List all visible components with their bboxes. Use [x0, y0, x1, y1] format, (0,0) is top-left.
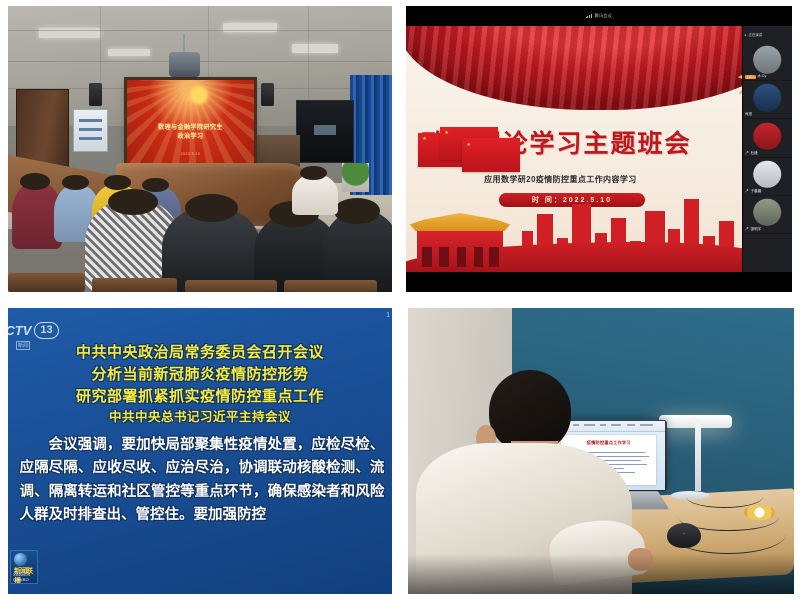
speaker-right [261, 83, 274, 106]
seated-attendees [8, 172, 392, 292]
panel-conference-room[interactable]: 数理与金融学院研究生 政治学习 2022.5.10 [0, 0, 400, 300]
cctv-wordmark: CCTV [8, 323, 31, 338]
meeting-app-label: 腾讯会议 [595, 13, 613, 19]
participant-name: 于晨晨 [751, 189, 762, 194]
participant-name: 杜峰 [751, 151, 758, 156]
signal-icon [586, 14, 592, 18]
participant-name-row: 主持人 木.Cy [745, 74, 767, 79]
globe-icon [14, 553, 27, 566]
avatar [754, 160, 782, 188]
conference-room-photo: 数理与金融学院研究生 政治学习 2022.5.10 [8, 6, 392, 292]
tiananmen-gate-illustration [410, 213, 510, 267]
participant-name: 肖旭 [745, 112, 752, 117]
wall-poster [73, 109, 108, 152]
channel-number: 13 [34, 322, 58, 339]
participant-name-row: 🎤 于晨晨 [745, 189, 762, 194]
sidebar-header-label: 正在演讲 [749, 32, 763, 37]
national-flags: ★ ★ ★ [418, 124, 518, 178]
participant-name-row: 🎤 邵明宇 [745, 227, 762, 232]
projector-slide-title: 数理与金融学院研究生 政治学习 [133, 124, 247, 142]
slide-title-line2: 政治学习 [133, 133, 247, 142]
mic-icon: 🎤 [745, 189, 749, 193]
ceiling-projector [169, 52, 200, 78]
participant-name-row: 🎤 杜峰 [745, 151, 758, 156]
cctv-logo: CCTV 13 [8, 322, 59, 339]
speaking-indicator-icon: ▸ [745, 33, 747, 37]
mic-icon: 🎤 [745, 151, 749, 155]
projector-slide-date: 2022.5.10 [127, 152, 254, 156]
avatar [754, 84, 782, 112]
xinwen-lianbo-logo: 新闻联播 XINWEN LIANBO [10, 550, 38, 584]
participant-tile[interactable]: 主持人 木.Cy [743, 43, 792, 81]
student-laptop-photo: 疫情防控重点工作学习 ⌁ [408, 308, 794, 594]
headline-line-2: 分析当前新冠肺炎疫情防控形势 [23, 364, 376, 386]
speaker-left [89, 83, 102, 106]
participant-name: 邵明宇 [751, 227, 762, 232]
mic-icon: 🎤 [745, 227, 749, 231]
news-headline: 中共中央政治局常务委员会召开会议 分析当前新冠肺炎疫情防控形势 研究部署抓紧抓实… [23, 342, 376, 426]
participant-tile[interactable]: 🎤 杜峰 [743, 119, 792, 157]
desk-lamp-pole [695, 422, 701, 491]
headline-line-4: 中共中央总书记习近平主持会议 [23, 408, 376, 426]
participant-tile[interactable]: 肖旭 [743, 81, 792, 119]
panel-tencent-meeting[interactable]: 腾讯会议 政治理论学习主题班会 应用数学研20疫情防控重点工作内容学习 时 间：… [400, 0, 800, 300]
participant-name-row: 肖旭 [745, 112, 752, 117]
participant-sidebar[interactable]: ▸ 正在演讲 主持人 木.Cy 肖旭 [742, 26, 792, 272]
participant-tile[interactable]: 🎤 于晨晨 [743, 158, 792, 196]
avatar [754, 46, 782, 74]
photo-collage: 数理与金融学院研究生 政治学习 2022.5.10 [0, 0, 800, 600]
tencent-meeting-screenshot: 腾讯会议 政治理论学习主题班会 应用数学研20疫情防控重点工作内容学习 时 间：… [406, 6, 792, 292]
wall-tv [296, 100, 354, 163]
sidebar-header: ▸ 正在演讲 [743, 26, 792, 43]
headline-line-3: 研究部署抓紧抓实疫情防控重点工作 [23, 386, 376, 408]
foreground-shadow [408, 554, 794, 594]
program-name-en: XINWEN LIANBO [13, 572, 37, 582]
news-body-text: 会议强调，要加快局部聚集性疫情处置，应检尽检、应隔尽隔、应收尽收、应治尽治，协调… [20, 434, 385, 528]
avatar [754, 122, 782, 150]
avatar [754, 199, 782, 227]
panel-cctv-news[interactable]: CCTV 13 新闻 1 中共中央政治局常务委员会召开会议 分析当前新冠肺炎疫情… [0, 300, 400, 600]
panel-student-laptop[interactable]: 疫情防控重点工作学习 ⌁ [400, 300, 800, 600]
ppt-slide: 政治理论学习主题班会 应用数学研20疫情防控重点工作内容学习 时 间：2022.… [406, 26, 792, 272]
participant-tile[interactable]: 🎤 邵明宇 [743, 196, 792, 234]
phone-status-bar: 腾讯会议 [406, 6, 792, 26]
host-badge: 主持人 [745, 75, 756, 79]
participant-name: 木.Cy [757, 74, 766, 79]
cctv13-broadcast-frame: CCTV 13 新闻 1 中共中央政治局常务委员会召开会议 分析当前新冠肺炎疫情… [8, 308, 392, 594]
headline-line-1: 中共中央政治局常务委员会召开会议 [23, 342, 376, 364]
red-drape-decoration [406, 26, 792, 110]
corner-tick: 1 [386, 312, 390, 319]
cable-2 [670, 514, 786, 554]
